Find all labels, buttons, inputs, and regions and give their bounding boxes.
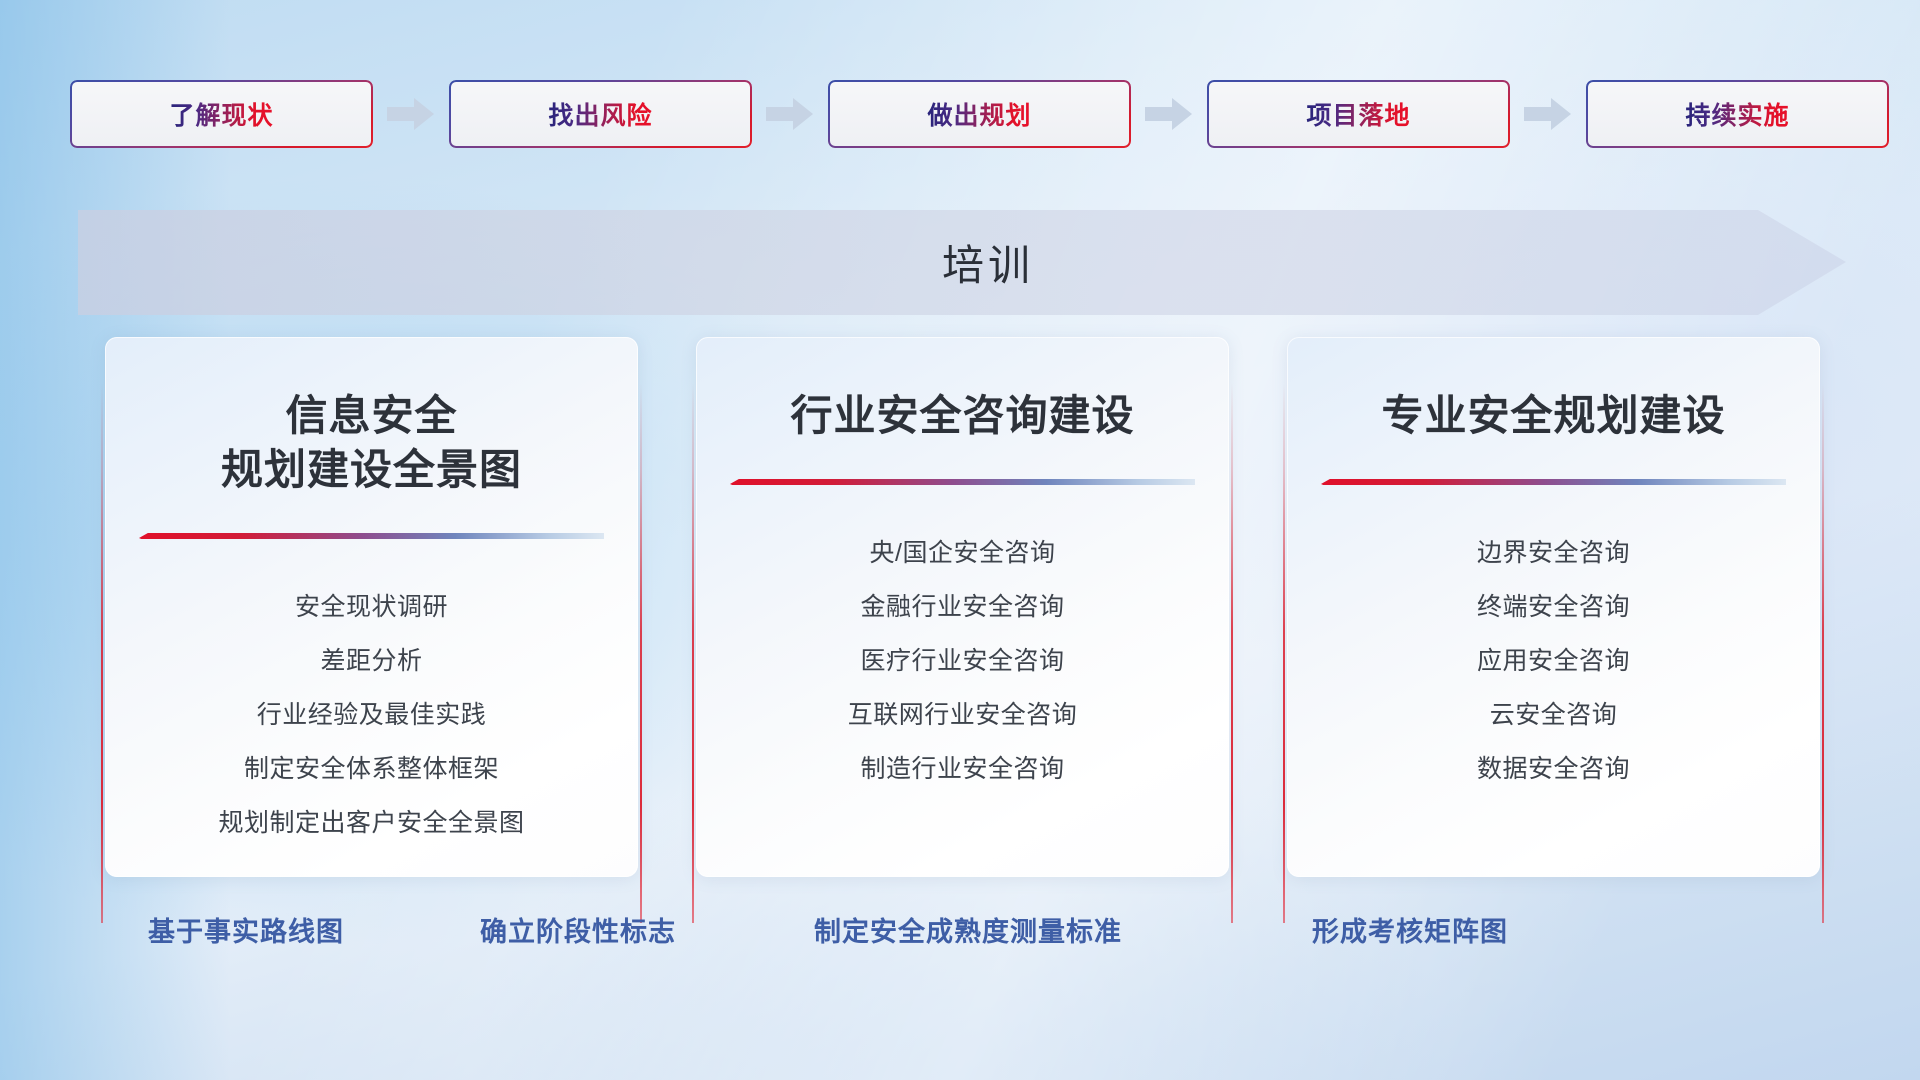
step-box-5[interactable]: 持续实施 <box>1586 80 1889 148</box>
right-arrow-icon <box>766 97 814 131</box>
card-title: 专业安全规划建设 <box>1381 389 1725 443</box>
step-label: 了解现状 <box>169 96 273 132</box>
list-item: 终端安全咨询 <box>1477 587 1630 623</box>
gradient-rule-icon <box>1321 477 1786 493</box>
list-item: 制造行业安全咨询 <box>860 749 1064 785</box>
card-information-security-blueprint[interactable]: 信息安全 规划建设全景图 <box>105 337 638 877</box>
right-arrow-icon <box>1145 97 1193 131</box>
caption-roadmap: 基于事实路线图 <box>148 910 344 949</box>
training-banner: 培训 <box>78 210 1846 315</box>
caption-assessment-matrix: 形成考核矩阵图 <box>1312 910 1508 949</box>
list-item: 行业经验及最佳实践 <box>257 695 487 731</box>
card-wrapper-3: 专业安全规划建设 <box>1287 337 1820 877</box>
card-industry-security-consulting[interactable]: 行业安全咨询建设 <box>696 337 1229 877</box>
card-professional-security-planning[interactable]: 专业安全规划建设 <box>1287 337 1820 877</box>
step-box-4[interactable]: 项目落地 <box>1207 80 1510 148</box>
card-list: 边界安全咨询 终端安全咨询 应用安全咨询 云安全咨询 数据安全咨询 <box>1321 533 1786 785</box>
gradient-rule-icon <box>730 477 1195 493</box>
list-item: 金融行业安全咨询 <box>860 587 1064 623</box>
list-item: 边界安全咨询 <box>1477 533 1630 569</box>
training-banner-label-wrap: 培训 <box>78 210 1898 315</box>
caption-milestones: 确立阶段性标志 <box>480 910 676 949</box>
step-label: 项目落地 <box>1306 96 1410 132</box>
list-item: 差距分析 <box>320 641 422 677</box>
right-arrow-icon <box>387 97 435 131</box>
card-wrapper-1: 信息安全 规划建设全景图 <box>105 337 638 877</box>
card-wrapper-2: 行业安全咨询建设 <box>696 337 1229 877</box>
list-item: 医疗行业安全咨询 <box>860 641 1064 677</box>
card-list: 央/国企安全咨询 金融行业安全咨询 医疗行业安全咨询 互联网行业安全咨询 制造行… <box>730 533 1195 785</box>
card-list: 安全现状调研 差距分析 行业经验及最佳实践 制定安全体系整体框架 规划制定出客户… <box>139 587 604 839</box>
list-item: 云安全咨询 <box>1490 695 1618 731</box>
list-item: 央/国企安全咨询 <box>870 533 1056 569</box>
list-item: 数据安全咨询 <box>1477 749 1630 785</box>
training-banner-label: 培训 <box>942 232 1034 293</box>
right-arrow-icon <box>1524 97 1572 131</box>
card-title: 行业安全咨询建设 <box>790 389 1134 443</box>
gradient-rule-icon <box>139 531 604 547</box>
card-title: 信息安全 规划建设全景图 <box>221 389 522 497</box>
step-box-3[interactable]: 做出规划 <box>828 80 1131 148</box>
list-item: 规划制定出客户安全全景图 <box>218 803 524 839</box>
caption-maturity-standard: 制定安全成熟度测量标准 <box>814 910 1122 949</box>
step-label: 找出风险 <box>548 96 652 132</box>
step-box-2[interactable]: 找出风险 <box>449 80 752 148</box>
list-item: 安全现状调研 <box>295 587 448 623</box>
step-label: 做出规划 <box>927 96 1031 132</box>
step-label: 持续实施 <box>1685 96 1789 132</box>
caption-row: 基于事实路线图 确立阶段性标志 制定安全成熟度测量标准 形成考核矩阵图 <box>0 910 1920 960</box>
list-item: 应用安全咨询 <box>1477 641 1630 677</box>
step-box-1[interactable]: 了解现状 <box>70 80 373 148</box>
list-item: 制定安全体系整体框架 <box>244 749 499 785</box>
card-row: 信息安全 规划建设全景图 <box>105 337 1820 877</box>
process-step-row: 了解现状 找出风险 做出规划 项目落地 <box>70 78 1850 150</box>
list-item: 互联网行业安全咨询 <box>848 695 1078 731</box>
slide-canvas: 了解现状 找出风险 做出规划 项目落地 <box>0 0 1920 1080</box>
